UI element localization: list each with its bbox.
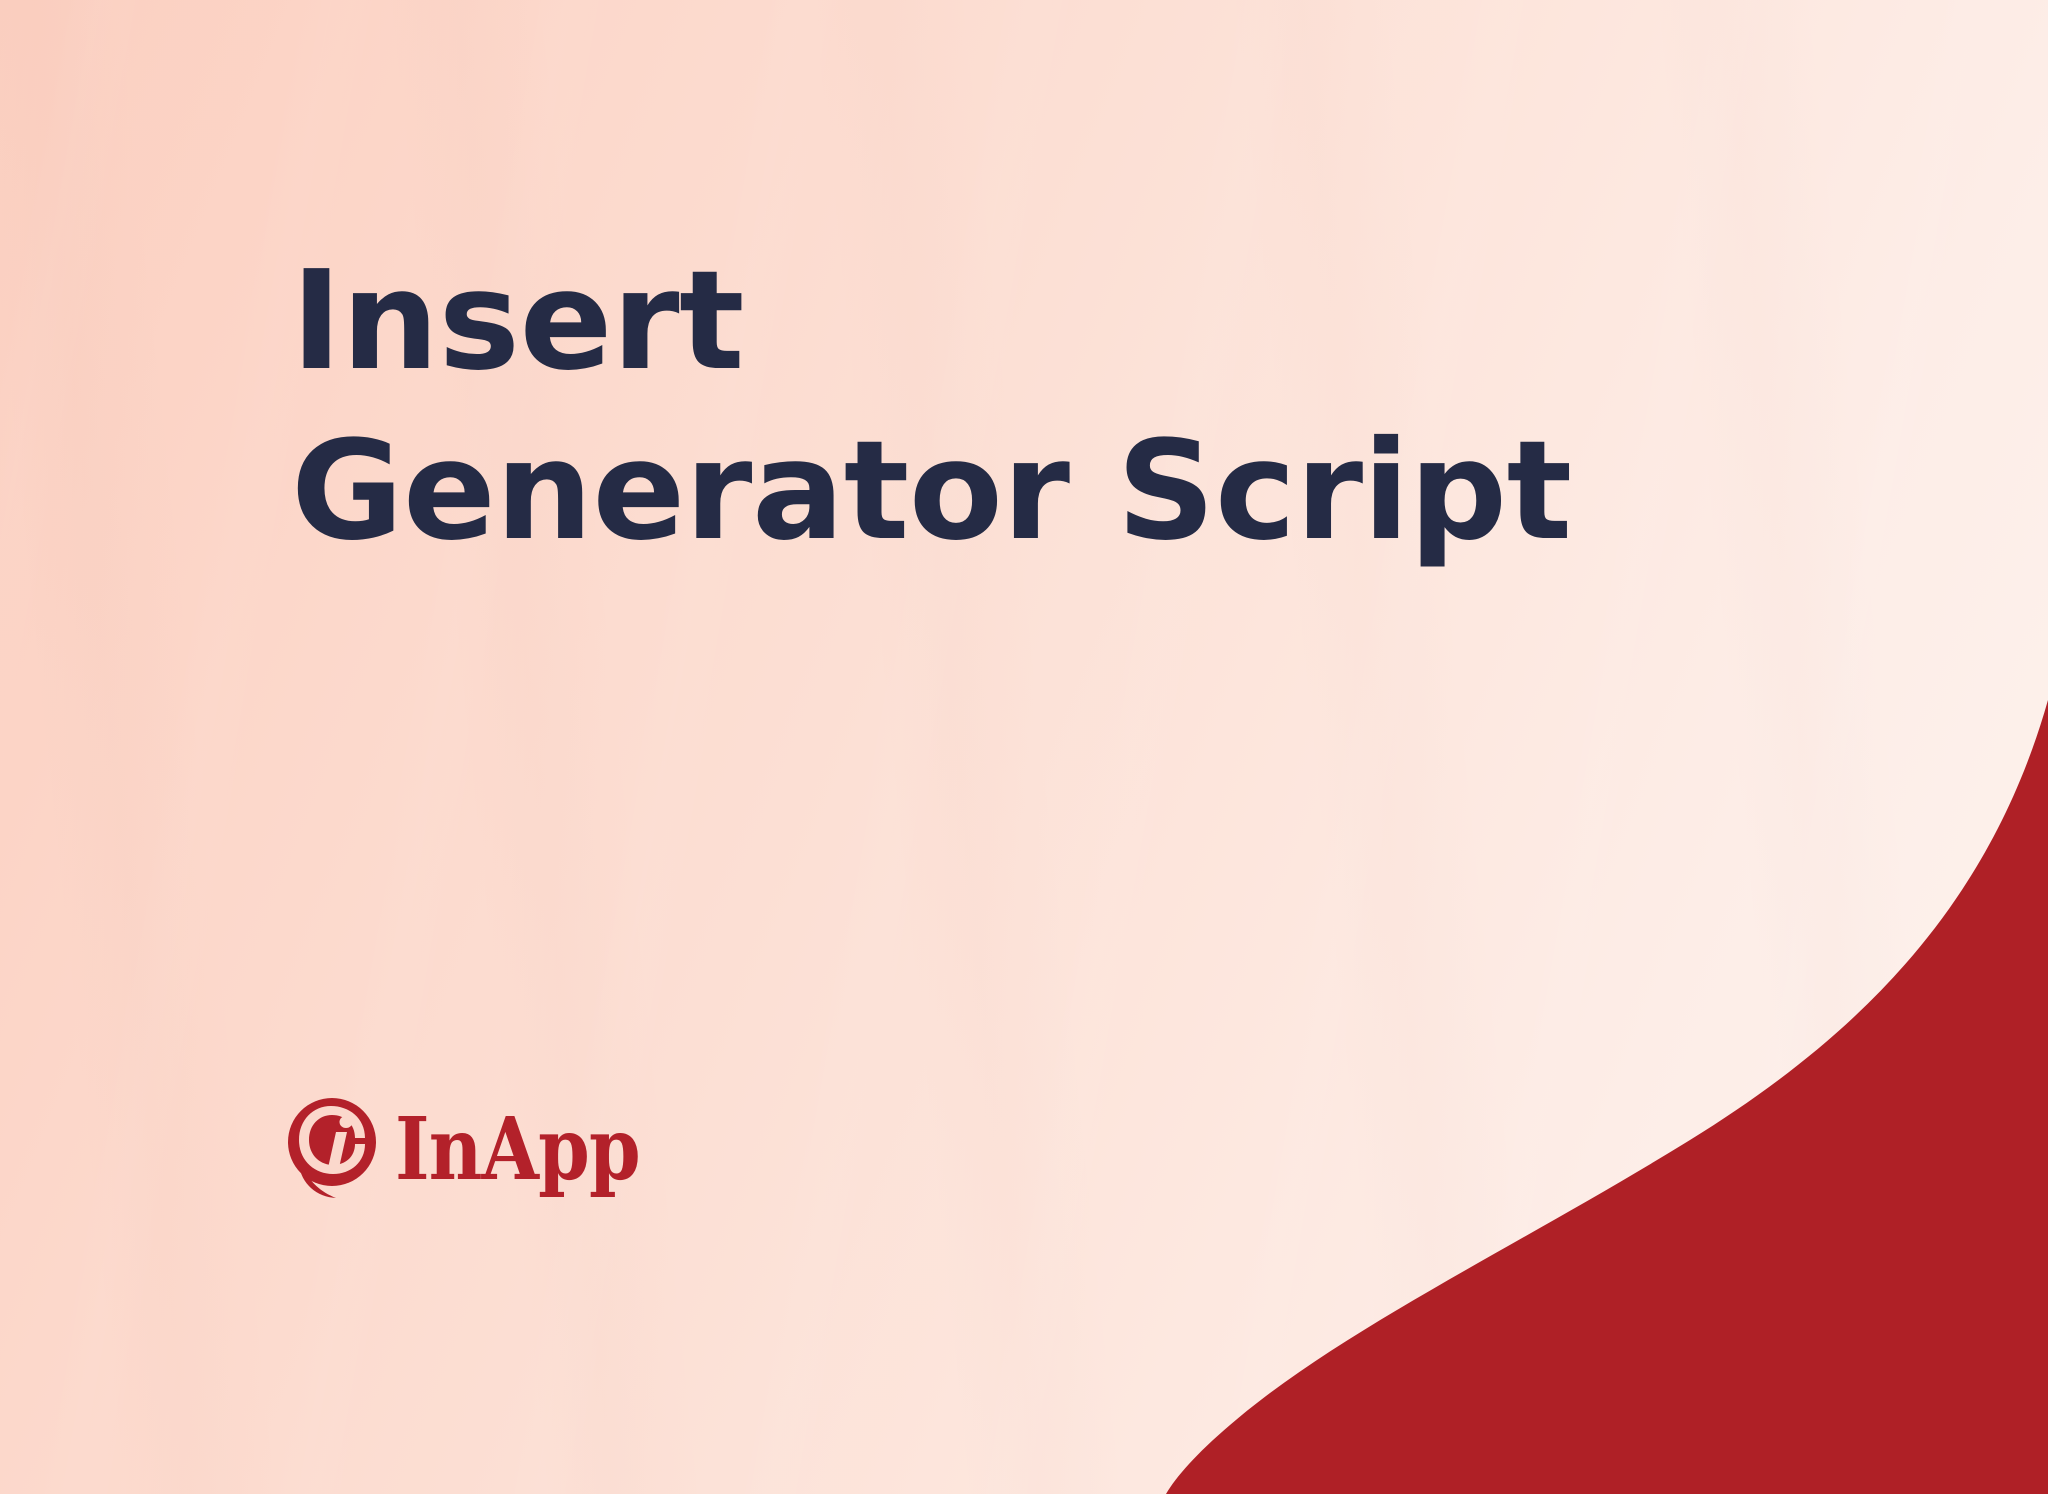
background-streak-overlay	[0, 0, 2048, 1494]
brand-logo: InApp	[287, 1092, 680, 1204]
presentation-slide: Insert Generator Script InApp	[0, 0, 2048, 1494]
red-s-curve-decoration	[0, 0, 2048, 1494]
slide-title-line-1: Insert	[291, 252, 1572, 392]
inapp-swirl-i-icon	[287, 1092, 381, 1204]
slide-title: Insert Generator Script	[291, 252, 1572, 561]
slide-title-line-2: Generator Script	[291, 422, 1572, 562]
brand-name: InApp	[395, 1107, 640, 1193]
red-s-curve-path	[1166, 700, 2048, 1494]
